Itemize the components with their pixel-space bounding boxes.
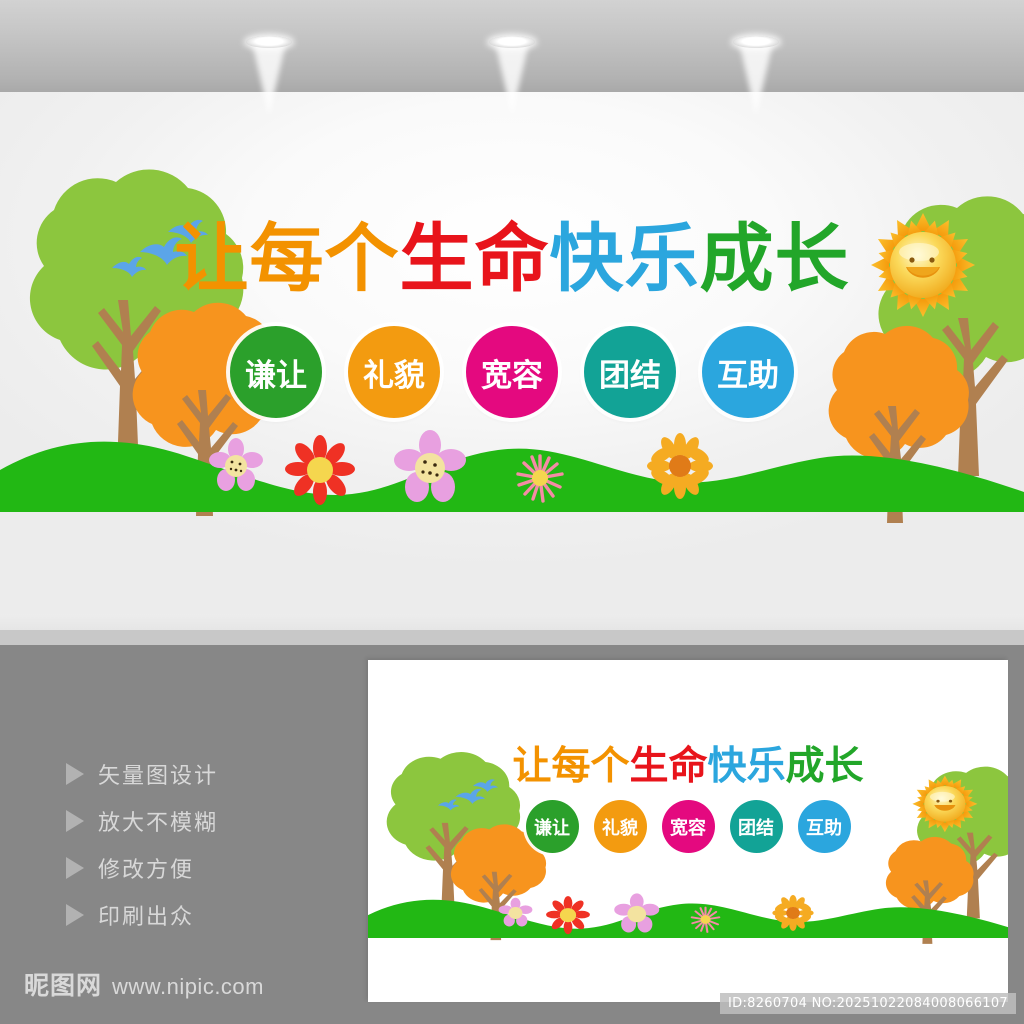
title-segment-3: 快乐 xyxy=(708,744,786,789)
virtue-circle-kuanrong[interactable]: 宽容 xyxy=(662,800,715,853)
artwork-thumbnail-card: 让每个生命快乐成长 谦让 礼貌 宽容 团结 互助 xyxy=(368,660,1008,1002)
virtue-circle-tuanjie[interactable]: 团结 xyxy=(584,326,676,418)
virtue-label: 谦让 xyxy=(534,814,570,840)
site-url: www.nipic.com xyxy=(112,974,264,1000)
virtue-circle-qianrang[interactable]: 谦让 xyxy=(526,800,579,853)
panel-divider xyxy=(0,630,1024,645)
virtue-circle-limao[interactable]: 礼貌 xyxy=(348,326,440,418)
site-watermark: 昵图网 www.nipic.com xyxy=(24,966,264,1002)
triangle-bullet-icon xyxy=(66,904,84,926)
virtue-label: 团结 xyxy=(738,814,774,840)
list-item: 放大不模糊 xyxy=(66,797,346,844)
virtue-label: 互助 xyxy=(806,814,842,840)
feature-label: 放大不模糊 xyxy=(98,805,218,837)
triangle-bullet-icon xyxy=(66,857,84,879)
title-segment-1: 让每个 xyxy=(512,744,629,789)
triangle-bullet-icon xyxy=(66,810,84,832)
feature-label: 印刷出众 xyxy=(98,899,194,931)
virtue-label: 互助 xyxy=(717,350,779,395)
virtue-circle-tuanjie[interactable]: 团结 xyxy=(730,800,783,853)
virtue-label: 宽容 xyxy=(670,814,706,840)
title-segment-4: 成长 xyxy=(786,744,864,789)
virtue-label: 宽容 xyxy=(481,350,543,395)
virtue-circle-qianrang[interactable]: 谦让 xyxy=(230,326,322,418)
title-segment-4: 成长 xyxy=(700,216,850,302)
page-root: 让每个生命快乐成长 谦让 礼貌 宽容 团结 互助 矢量图设计 放大不模糊 修改方… xyxy=(0,0,1024,1024)
thumbnail-title: 让每个生命快乐成长 xyxy=(368,744,1008,790)
flower-red-daisy xyxy=(546,896,590,934)
flower-red-daisy xyxy=(285,435,355,505)
list-item: 修改方便 xyxy=(66,844,346,891)
wall-mockup-preview: 让每个生命快乐成长 谦让 礼貌 宽容 团结 互助 xyxy=(0,0,1024,630)
site-name-cn: 昵图网 xyxy=(24,966,102,1002)
virtue-circle-limao[interactable]: 礼貌 xyxy=(594,800,647,853)
triangle-bullet-icon xyxy=(66,763,84,785)
image-id-badge: ID:8260704 NO:20251022084008066107 xyxy=(720,993,1016,1014)
virtue-label: 礼貌 xyxy=(363,350,425,395)
virtue-circle-kuanrong[interactable]: 宽容 xyxy=(466,326,558,418)
list-item: 印刷出众 xyxy=(66,891,346,938)
feature-label: 修改方便 xyxy=(98,852,194,884)
title-segment-1: 让每个 xyxy=(175,216,400,302)
virtue-circle-group: 谦让 礼貌 宽容 团结 互助 xyxy=(0,326,1024,418)
virtue-label: 礼貌 xyxy=(602,814,638,840)
title-segment-3: 快乐 xyxy=(550,216,700,302)
list-item: 矢量图设计 xyxy=(66,750,346,797)
thumbnail-virtue-group: 谦让 礼貌 宽容 团结 互助 xyxy=(368,800,1008,853)
feature-label: 矢量图设计 xyxy=(98,758,218,790)
virtue-circle-huzhu[interactable]: 互助 xyxy=(702,326,794,418)
title-segment-2: 生命 xyxy=(400,216,550,302)
virtue-label: 谦让 xyxy=(245,350,307,395)
page-title: 让每个生命快乐成长 xyxy=(0,216,1024,302)
virtue-label: 团结 xyxy=(599,350,661,395)
feature-list: 矢量图设计 放大不模糊 修改方便 印刷出众 xyxy=(66,750,346,938)
wall-artwork xyxy=(0,0,1024,630)
virtue-circle-huzhu[interactable]: 互助 xyxy=(798,800,851,853)
title-segment-2: 生命 xyxy=(629,744,707,789)
